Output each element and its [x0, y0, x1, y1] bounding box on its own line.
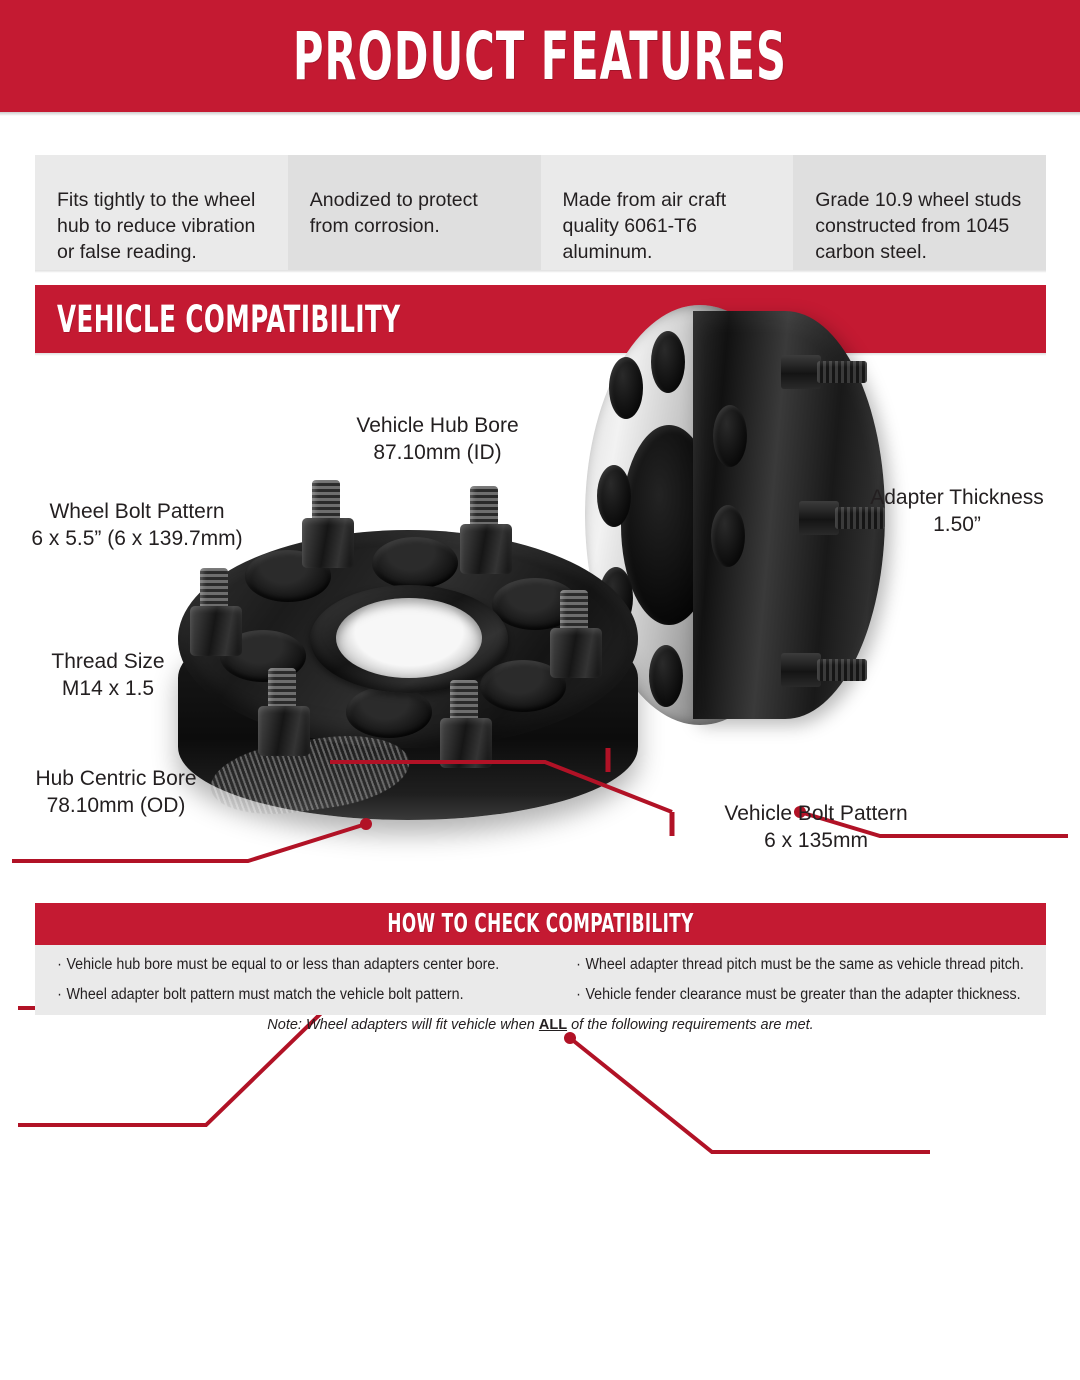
page-title: PRODUCT FEATURES	[162, 0, 918, 112]
bullet-marker: ·	[57, 956, 62, 973]
adapter-bolt-hole	[609, 357, 643, 419]
bullet-marker: ·	[576, 986, 581, 1003]
wheel-stud	[440, 680, 492, 768]
compatibility-checklist: ·Vehicle hub bore must be equal to or le…	[35, 945, 1046, 1015]
wheel-stud	[460, 486, 512, 574]
feature-row-shadow-divider	[35, 270, 1046, 273]
adapter-bolt-hole	[713, 405, 747, 467]
bullet-marker: ·	[576, 956, 581, 973]
note-suffix: of the following requirements are met.	[567, 1017, 814, 1033]
product-features-infographic: PRODUCT FEATURES Fits tightly to the whe…	[0, 0, 1080, 1080]
wheel-stud	[781, 355, 867, 389]
how-to-check-title: HOW TO CHECK COMPATIBILITY	[177, 903, 905, 945]
bullet-marker: ·	[57, 986, 62, 1003]
adapter-bolt-hole	[372, 537, 458, 589]
banner-shadow-divider	[0, 112, 1080, 116]
wheel-stud	[302, 480, 354, 568]
checklist-item-text: Vehicle hub bore must be equal to or les…	[66, 956, 499, 973]
callout-vehicle-bolt-pattern: Vehicle Bolt Pattern 6 x 135mm	[718, 800, 914, 854]
checklist-item: ·Vehicle hub bore must be equal to or le…	[35, 950, 512, 980]
feature-box-row: Fits tightly to the wheel hub to reduce …	[35, 155, 1046, 270]
adapter-bolt-hole	[346, 686, 432, 738]
product-features-banner: PRODUCT FEATURES	[0, 0, 1080, 112]
hub-centric-bore	[336, 598, 482, 678]
feature-box-2: Anodized to protect from corrosion.	[288, 155, 541, 270]
feature-box-3: Made from air craft quality 6061-T6 alum…	[541, 155, 794, 270]
callout-thread-size: Thread Size M14 x 1.5	[20, 648, 196, 702]
callout-wheel-bolt-pattern: Wheel Bolt Pattern 6 x 5.5” (6 x 139.7mm…	[12, 498, 262, 552]
callout-hub-centric-bore: Hub Centric Bore 78.10mm (OD)	[16, 765, 216, 819]
checklist-item: ·Vehicle fender clearance must be greate…	[554, 980, 1037, 1010]
wheel-stud	[258, 668, 310, 756]
compatibility-note: Note: Wheel adapters will fit vehicle wh…	[35, 1017, 1046, 1033]
note-prefix: Note: Wheel adapters will fit vehicle wh…	[267, 1017, 539, 1033]
wheel-stud	[190, 568, 242, 656]
callout-vehicle-hub-bore: Vehicle Hub Bore 87.10mm (ID)	[330, 412, 545, 466]
checklist-item-text: Wheel adapter bolt pattern must match th…	[66, 986, 463, 1003]
wheel-stud	[550, 590, 602, 678]
checklist-item: ·Wheel adapter bolt pattern must match t…	[35, 980, 512, 1010]
feature-box-1: Fits tightly to the wheel hub to reduce …	[35, 155, 288, 270]
how-to-check-banner: HOW TO CHECK COMPATIBILITY	[35, 903, 1046, 945]
checklist-item-text: Vehicle fender clearance must be greater…	[585, 986, 1020, 1003]
adapter-bolt-hole	[651, 331, 685, 393]
checklist-item: ·Wheel adapter thread pitch must be the …	[554, 950, 1037, 980]
adapter-bolt-hole	[711, 505, 745, 567]
note-emphasis: ALL	[539, 1017, 567, 1033]
feature-box-4: Grade 10.9 wheel studs constructed from …	[793, 155, 1046, 270]
wheel-stud	[781, 653, 867, 687]
checklist-item-text: Wheel adapter thread pitch must be the s…	[585, 956, 1023, 973]
callout-adapter-thickness: Adapter Thickness 1.50”	[862, 484, 1052, 538]
